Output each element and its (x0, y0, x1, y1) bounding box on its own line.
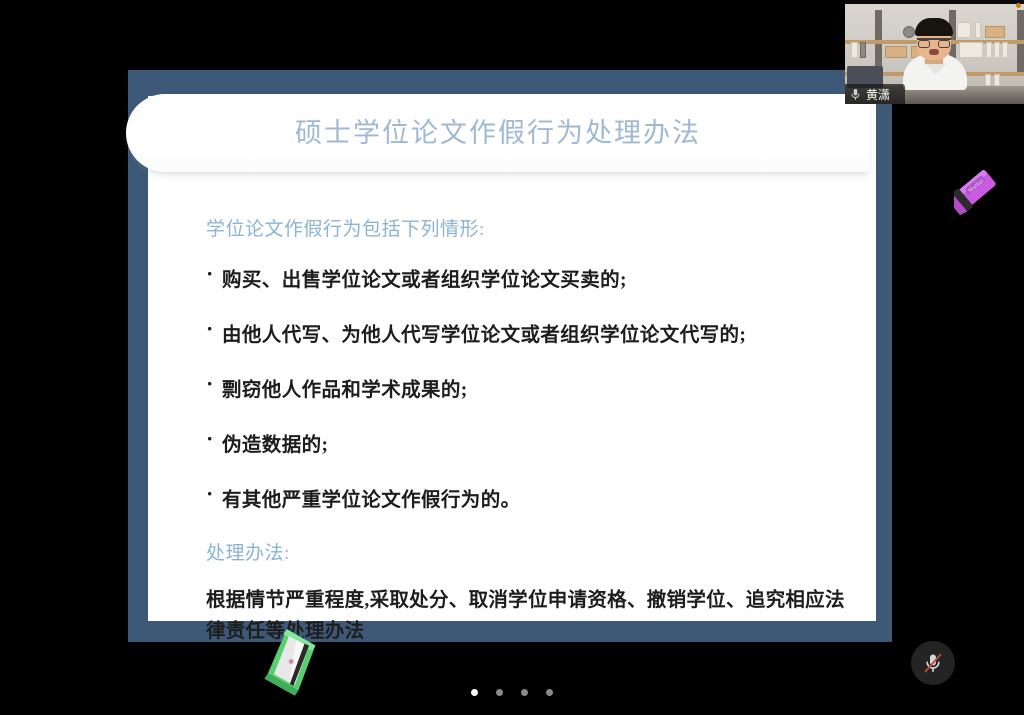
highlighter-marker-icon: Marker (954, 168, 1020, 230)
shelf-item (986, 42, 992, 58)
shelf-item (860, 42, 866, 58)
shelf-item (994, 42, 1000, 58)
svg-text:Marker: Marker (968, 178, 986, 195)
glasses-icon (917, 38, 951, 46)
microphone-icon (850, 88, 861, 101)
mute-toggle-button[interactable] (911, 641, 955, 685)
slide-pagination-dots[interactable] (0, 683, 1024, 701)
list-item: 有其他严重学位论文作假行为的。 (206, 483, 866, 512)
shelf-item (957, 22, 971, 38)
section-heading-conditions: 学位论文作假行为包括下列情形: (206, 214, 866, 241)
shelf-decor-ball (903, 26, 915, 38)
slide-content-card: 硕士学位论文作假行为处理办法 学位论文作假行为包括下列情形: 购买、出售学位论文… (148, 96, 876, 621)
page-dot-3[interactable] (521, 689, 528, 696)
conditions-bullet-list: 购买、出售学位论文或者组织学位论文买卖的; 由他人代写、为他人代写学位论文或者组… (206, 263, 866, 512)
shelf-item (994, 74, 1000, 86)
list-item: 由他人代写、为他人代写学位论文或者组织学位论文代写的; (206, 318, 866, 347)
participant-name-chip: 黄潇 (845, 84, 905, 104)
shelf-item (975, 22, 981, 38)
slide-title: 硕士学位论文作假行为处理办法 (126, 94, 870, 172)
participant-mouth (929, 49, 939, 55)
page-dot-2[interactable] (496, 689, 503, 696)
shelf-item (985, 74, 991, 86)
participant-name: 黄潇 (866, 86, 890, 103)
shelf-item (1002, 42, 1008, 58)
slide-title-banner: 硕士学位论文作假行为处理办法 (126, 94, 870, 172)
microphone-muted-icon (921, 651, 945, 675)
presentation-slide-frame: 硕士学位论文作假行为处理办法 学位论文作假行为包括下列情形: 购买、出售学位论文… (128, 70, 892, 642)
screen-root: 硕士学位论文作假行为处理办法 学位论文作假行为包括下列情形: 购买、出售学位论文… (0, 0, 1024, 715)
glasses-lens-left (918, 40, 930, 48)
participant-hair (915, 18, 953, 36)
handling-paragraph: 根据情节严重程度,采取处分、取消学位申请资格、撤销学位、追究相应法律责任等处理办… (206, 585, 854, 647)
page-dot-1[interactable] (471, 689, 478, 696)
shelf-item (985, 26, 1005, 38)
slide-body: 学位论文作假行为包括下列情形: 购买、出售学位论文或者组织学位论文买卖的; 由他… (206, 214, 866, 647)
page-dot-4[interactable] (546, 689, 553, 696)
section-heading-handling: 处理办法: (206, 538, 866, 565)
shelf-item (851, 42, 858, 58)
glasses-lens-right (938, 40, 950, 48)
shelf-item (959, 42, 983, 58)
shelf-item (885, 46, 907, 58)
participant-video-tile[interactable]: 黄潇 (845, 0, 1024, 104)
list-item: 剽窃他人作品和学术成果的; (206, 373, 866, 402)
recording-dot (1016, 3, 1021, 8)
list-item: 伪造数据的; (206, 428, 866, 457)
list-item: 购买、出售学位论文或者组织学位论文买卖的; (206, 263, 866, 292)
